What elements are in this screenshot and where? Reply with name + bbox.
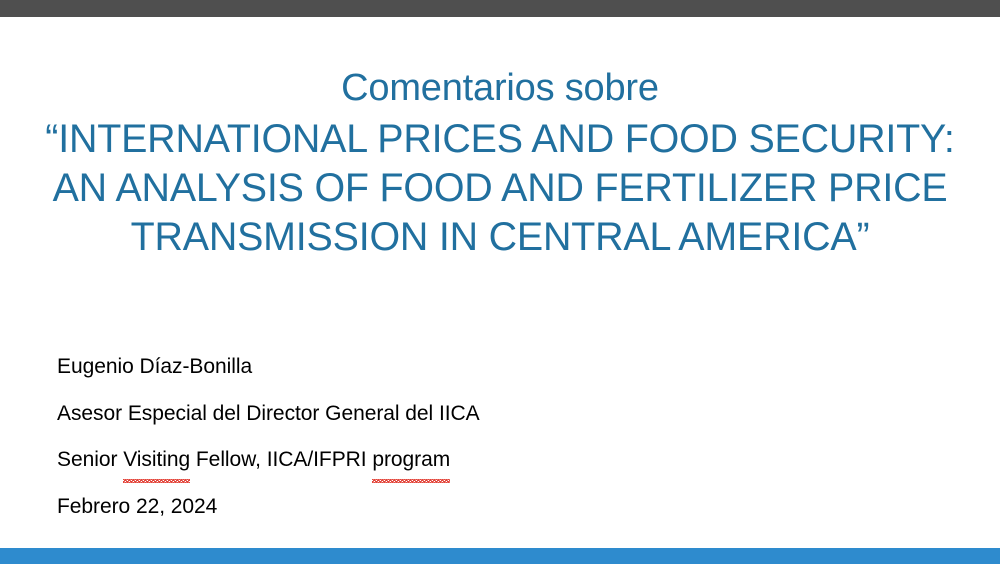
author-name: Eugenio Díaz-Bonilla	[57, 344, 757, 391]
title-lead-line: Comentarios sobre	[0, 63, 1000, 113]
affiliation-middle: Fellow, IICA/IFPRI	[190, 448, 372, 471]
slide-title-block: Comentarios sobre “INTERNATIONAL PRICES …	[0, 63, 1000, 262]
presentation-slide: Comentarios sobre “INTERNATIONAL PRICES …	[0, 0, 1000, 564]
title-main-line-2: AN ANALYSIS OF FOOD AND FERTILIZER PRICE	[8, 164, 993, 213]
author-affiliation: Senior Visiting Fellow, IICA/IFPRI progr…	[57, 437, 757, 484]
slide-body-block: Eugenio Díaz-Bonilla Asesor Especial del…	[57, 344, 757, 530]
title-main-line-1: “INTERNATIONAL PRICES AND FOOD SECURITY:	[8, 115, 993, 164]
misspelled-word-visiting[interactable]: Visiting	[123, 437, 190, 484]
top-decorative-band	[0, 0, 1000, 17]
presentation-date: Febrero 22, 2024	[57, 484, 757, 531]
bottom-decorative-band	[0, 548, 1000, 564]
misspelled-word-program[interactable]: program	[372, 437, 450, 484]
title-main-line-3: TRANSMISSION IN CENTRAL AMERICA”	[8, 213, 993, 262]
affiliation-prefix: Senior	[57, 448, 123, 471]
author-role: Asesor Especial del Director General del…	[57, 391, 757, 438]
